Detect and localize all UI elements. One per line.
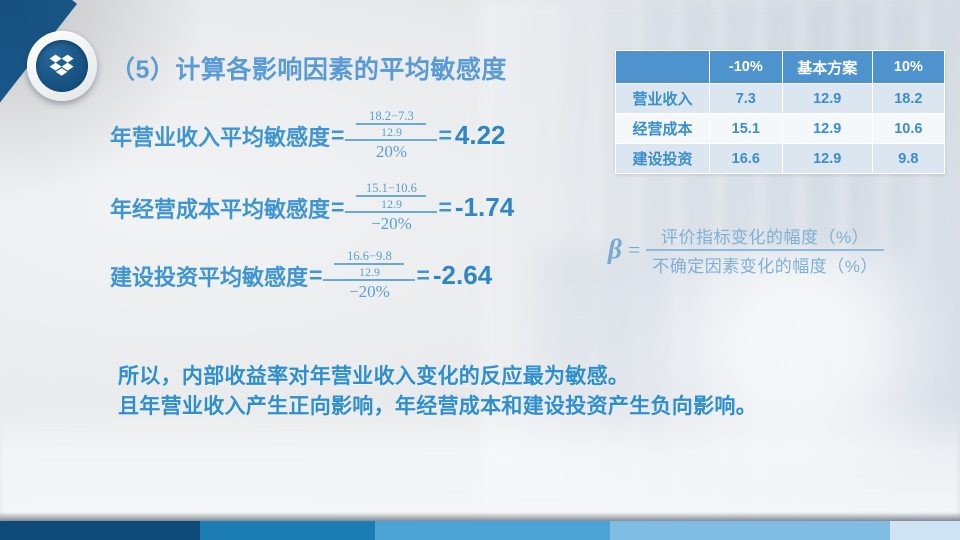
formula-revenue: 年营业收入平均敏感度 = 18.2−7.3 12.9 20% = 4.22 <box>110 110 506 161</box>
table-cell-construction-investment-minus10: 16.6 <box>710 144 782 173</box>
conclusion-line-1: 所以，内部收益率对年营业收入变化的反应最为敏感。 <box>118 362 757 392</box>
table-row: 经营成本 15.1 12.9 10.6 <box>616 114 944 143</box>
formula-construction-investment-result: -2.64 <box>433 260 492 291</box>
formula-construction-investment-fraction: 16.6−9.8 12.9 −20% <box>323 250 415 301</box>
formula-revenue-inner-numerator: 18.2−7.3 <box>363 110 420 123</box>
beta-fraction: 评价指标变化的幅度（%） 不确定因素变化的幅度（%） <box>646 222 884 278</box>
table-row-label-revenue: 营业收入 <box>616 84 709 113</box>
conclusion-block: 所以，内部收益率对年营业收入变化的反应最为敏感。 且年营业收入产生正向影响，年经… <box>118 362 757 422</box>
formula-operating-cost-label: 年经营成本平均敏感度 <box>110 192 330 224</box>
formula-construction-investment-inner-fraction: 16.6−9.8 12.9 <box>334 250 404 278</box>
table-cell-revenue-plus10: 18.2 <box>873 84 944 113</box>
beta-definition: β = 评价指标变化的幅度（%） 不确定因素变化的幅度（%） <box>608 222 884 278</box>
table-header-cell-minus10: -10% <box>710 51 782 83</box>
formula-revenue-equals2: = <box>438 122 451 149</box>
table-cell-operating-cost-plus10: 10.6 <box>873 114 944 143</box>
formula-construction-investment-outer-numerator: 16.6−9.8 12.9 <box>328 250 410 279</box>
formula-operating-cost-result: -1.74 <box>455 192 514 223</box>
table-row-label-construction-investment: 建设投资 <box>616 144 709 173</box>
page-title: （5）计算各影响因素的平均敏感度 <box>110 50 507 86</box>
table-row-label-operating-cost: 经营成本 <box>616 114 709 143</box>
table-cell-revenue-minus10: 7.3 <box>710 84 782 113</box>
bottom-bar-segment-2 <box>200 521 375 540</box>
logo-badge <box>27 31 97 101</box>
formula-construction-investment-outer-denominator: −20% <box>343 281 396 301</box>
formula-revenue-inner-denominator: 12.9 <box>375 125 408 139</box>
formula-revenue-inner-fraction: 18.2−7.3 12.9 <box>356 110 426 138</box>
beta-denominator: 不确定因素变化的幅度（%） <box>646 251 884 278</box>
formula-revenue-label: 年营业收入平均敏感度 <box>110 120 330 152</box>
table-header-row: -10% 基本方案 10% <box>616 51 944 83</box>
formula-construction-investment-equals: = <box>309 262 322 289</box>
table-cell-construction-investment-plus10: 9.8 <box>873 144 944 173</box>
table-header-cell-base: 基本方案 <box>783 51 872 83</box>
formula-revenue-fraction: 18.2−7.3 12.9 20% <box>345 110 437 161</box>
formula-revenue-result: 4.22 <box>455 120 506 151</box>
table-header-cell-blank <box>616 51 709 83</box>
sensitivity-table: -10% 基本方案 10% 营业收入 7.3 12.9 18.2 经营成本 15… <box>615 50 945 174</box>
table-cell-operating-cost-base: 12.9 <box>783 114 872 143</box>
bottom-bar-segment-1 <box>0 521 200 540</box>
table-cell-construction-investment-base: 12.9 <box>783 144 872 173</box>
formula-revenue-outer-numerator: 18.2−7.3 12.9 <box>350 110 432 139</box>
formula-construction-investment-label: 建设投资平均敏感度 <box>110 260 308 292</box>
table-cell-operating-cost-minus10: 15.1 <box>710 114 782 143</box>
bottom-bar-segment-5 <box>890 521 960 540</box>
formula-revenue-equals: = <box>331 122 344 149</box>
table-row: 营业收入 7.3 12.9 18.2 <box>616 84 944 113</box>
formula-operating-cost-outer-numerator: 15.1−10.6 12.9 <box>350 182 432 211</box>
formula-construction-investment-inner-denominator: 12.9 <box>353 265 386 279</box>
formula-operating-cost-inner-numerator: 15.1−10.6 <box>360 182 423 195</box>
bottom-color-bar <box>0 521 960 540</box>
formula-revenue-outer-denominator: 20% <box>370 141 413 161</box>
formula-operating-cost-inner-fraction: 15.1−10.6 12.9 <box>356 182 426 210</box>
dropbox-logo-icon <box>36 40 88 92</box>
table-header-cell-plus10: 10% <box>873 51 944 83</box>
table-cell-revenue-base: 12.9 <box>783 84 872 113</box>
table-header: -10% 基本方案 10% <box>616 51 944 83</box>
formula-operating-cost: 年经营成本平均敏感度 = 15.1−10.6 12.9 −20% = -1.74 <box>110 182 514 233</box>
formula-operating-cost-fraction: 15.1−10.6 12.9 −20% <box>345 182 437 233</box>
bottom-bar-segment-4 <box>610 521 890 540</box>
conclusion-line-2: 且年营业收入产生正向影响，年经营成本和建设投资产生负向影响。 <box>118 392 757 422</box>
bottom-bar-segment-3 <box>375 521 610 540</box>
formula-construction-investment: 建设投资平均敏感度 = 16.6−9.8 12.9 −20% = -2.64 <box>110 250 492 301</box>
formula-operating-cost-outer-denominator: −20% <box>365 213 418 233</box>
beta-equals: = <box>628 237 640 263</box>
formula-construction-investment-inner-numerator: 16.6−9.8 <box>341 250 398 263</box>
formula-operating-cost-inner-denominator: 12.9 <box>375 197 408 211</box>
formula-operating-cost-equals: = <box>331 194 344 221</box>
slide-canvas: （5）计算各影响因素的平均敏感度 年营业收入平均敏感度 = 18.2−7.3 1… <box>0 0 960 540</box>
bottom-bar-shadow <box>0 512 960 521</box>
table-row: 建设投资 16.6 12.9 9.8 <box>616 144 944 173</box>
table-body: 营业收入 7.3 12.9 18.2 经营成本 15.1 12.9 10.6 建… <box>616 84 944 173</box>
formula-construction-investment-equals2: = <box>416 262 429 289</box>
formula-operating-cost-equals2: = <box>438 194 451 221</box>
beta-numerator: 评价指标变化的幅度（%） <box>655 222 875 249</box>
beta-symbol: β <box>608 234 622 265</box>
